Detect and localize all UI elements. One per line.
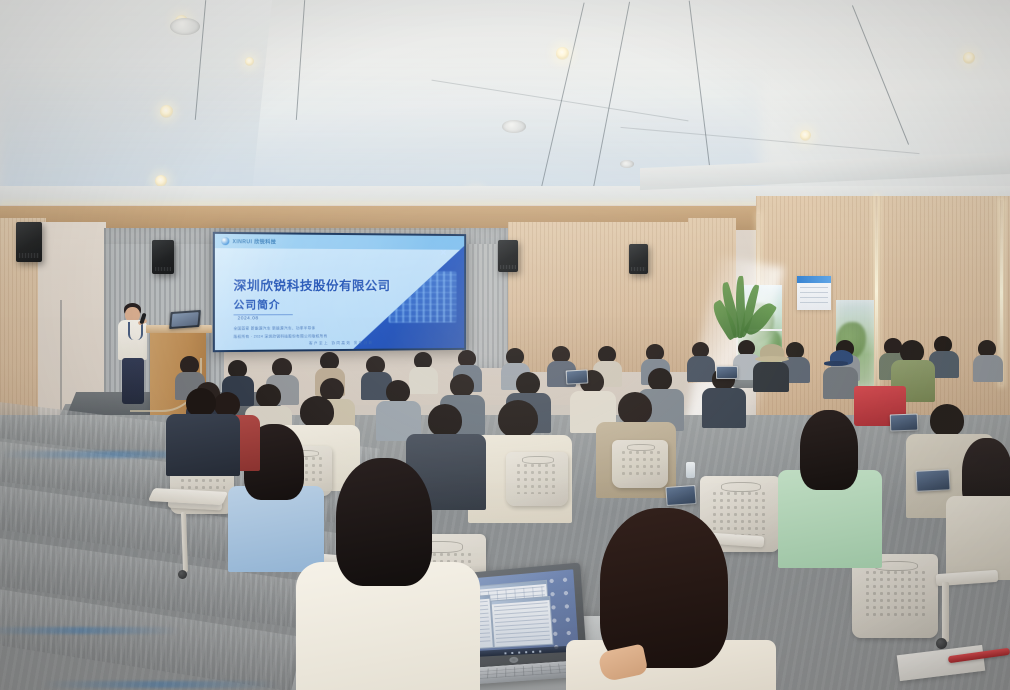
- presentation-slide: XINRUI 欣锐科技 ✕ 深圳欣锐科技股份有限公司 公司简介 2024.08 …: [215, 234, 464, 350]
- water-bottle-2: [686, 462, 695, 478]
- audience-laptop-5: [915, 469, 950, 492]
- chair-perforation: [711, 490, 769, 536]
- logo-mark-icon: [221, 237, 229, 245]
- slide-fine-print-1: 全国首家 新能源汽车 新能源汽车、功率半导体: [234, 325, 316, 332]
- audience-laptop-2: [665, 485, 696, 506]
- spreadsheet-rows: [494, 602, 550, 644]
- wall-speaker-stage-right: [498, 240, 518, 272]
- product-image: [389, 271, 457, 323]
- slide-fine-print-2: 版权所有 · 2024 深圳欣锐科技股份有限公司版权所有: [234, 333, 328, 341]
- audience-laptop-4: [716, 366, 738, 379]
- slide-subtitle: 公司简介: [234, 297, 281, 312]
- projection-screen: XINRUI 欣锐科技 ✕ 深圳欣锐科技股份有限公司 公司简介 2024.08 …: [213, 232, 466, 352]
- laptop-brand-logo: [509, 657, 518, 663]
- wall-speaker-left: [16, 222, 42, 262]
- podium-laptop: [169, 310, 201, 329]
- conference-room-photo: XINRUI 欣锐科技 ✕ 深圳欣锐科技股份有限公司 公司简介 2024.08 …: [0, 0, 1010, 690]
- chair-perforation: [620, 449, 660, 478]
- company-logo: XINRUI 欣锐科技: [221, 237, 276, 246]
- chair-caster: [936, 638, 947, 649]
- slide-date: 2024.08: [238, 315, 259, 320]
- notice-board-header: [797, 276, 831, 283]
- chair-caster: [178, 570, 187, 579]
- chair-perforation: [515, 462, 560, 494]
- chair-leg: [942, 582, 949, 642]
- audience-laptop-1: [566, 369, 589, 384]
- slide-title: 深圳欣锐科技股份有限公司: [234, 275, 391, 294]
- logo-text: XINRUI 欣锐科技: [232, 238, 276, 245]
- led-light-strip-1: [875, 196, 878, 386]
- notice-board[interactable]: [797, 276, 831, 310]
- slide-x-mark-icon: ✕: [440, 248, 447, 259]
- wall-speaker-stage-left: [152, 240, 174, 274]
- notice-board-content: [800, 287, 828, 307]
- slide-accent-triangle: [349, 245, 464, 350]
- wall-speaker-right: [629, 244, 648, 274]
- app-window-front: [491, 596, 554, 648]
- chair-perforation: [864, 569, 926, 619]
- audience-laptop-3: [890, 414, 919, 432]
- slide-footer: 客户至上 协同高效 务实创新: [309, 341, 374, 347]
- chair-back: [612, 440, 668, 488]
- chair-back: [506, 452, 568, 506]
